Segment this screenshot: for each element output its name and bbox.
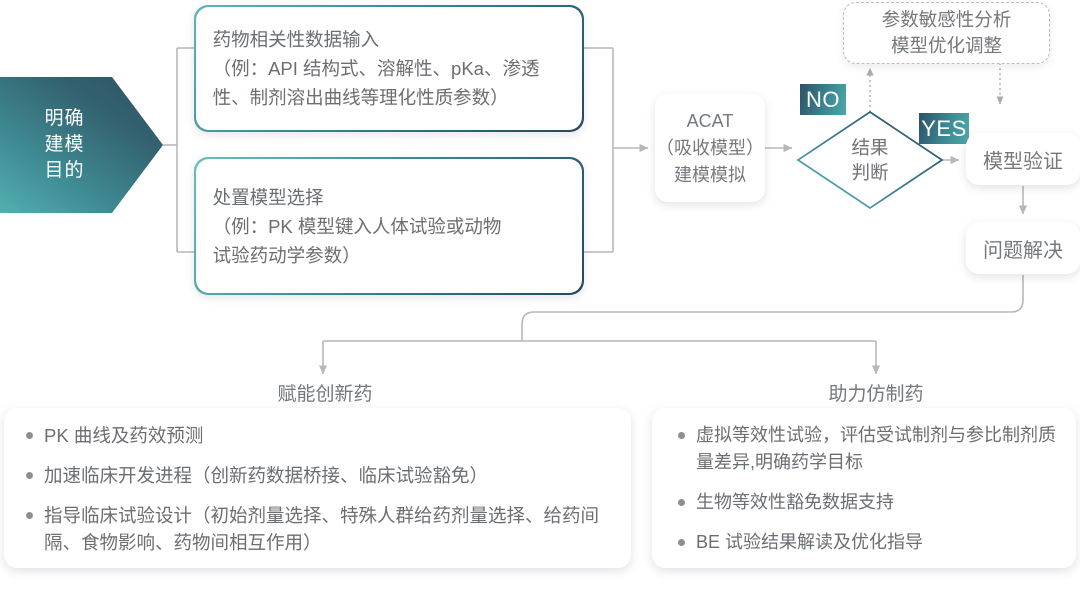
node-drug-data-input[interactable]: 药物相关性数据输入 （例：API 结构式、溶解性、pKa、渗透 性、制剂溶出曲线… bbox=[194, 5, 584, 132]
node-disposition-model-selection[interactable]: 处置模型选择 （例：PK 模型键入人体试验或动物 试验药动学参数） bbox=[194, 157, 584, 295]
bullet-dot-icon bbox=[678, 539, 685, 546]
bullet-dot-icon bbox=[26, 472, 33, 479]
node-acat-simulation[interactable]: ACAT （吸收模型） 建模模拟 bbox=[655, 94, 765, 202]
badge-yes-label: YES bbox=[921, 118, 967, 140]
badge-no-label: NO bbox=[806, 89, 840, 111]
badge-no: NO bbox=[800, 84, 846, 115]
panel-generic-drug: 虚拟等效性试验，评估受试制剂与参比制剂质量差异,明确药学目标 生物等效性豁免数据… bbox=[652, 408, 1076, 568]
list-item: 生物等效性豁免数据支持 bbox=[666, 489, 1058, 516]
bullet-dot-icon bbox=[26, 432, 33, 439]
bullet-dot-icon bbox=[678, 499, 685, 506]
branch-heading-innovative-drug: 赋能创新药 bbox=[255, 379, 395, 406]
node-sensitivity-optimization[interactable]: 参数敏感性分析 模型优化调整 bbox=[843, 2, 1050, 64]
start-node-label: 明确 建模 目的 bbox=[44, 106, 84, 184]
node-disposition-model-selection-body: 处置模型选择 （例：PK 模型键入人体试验或动物 试验药动学参数） bbox=[196, 159, 583, 294]
node-model-verification[interactable]: 模型验证 bbox=[966, 133, 1080, 185]
list-item: 加速临床开发进程（创新药数据桥接、临床试验豁免） bbox=[18, 462, 613, 489]
start-node-clarify-goal[interactable]: 明确 建模 目的 bbox=[0, 77, 163, 213]
list-item: 虚拟等效性试验，评估受试制剂与参比制剂质量差异,明确药学目标 bbox=[666, 422, 1058, 476]
flowchart-canvas: 明确 建模 目的 药物相关性数据输入 （例：API 结构式、溶解性、pKa、渗透… bbox=[0, 0, 1080, 606]
node-problem-solved[interactable]: 问题解决 bbox=[966, 222, 1080, 274]
panel-innovative-drug: PK 曲线及药效预测 加速临床开发进程（创新药数据桥接、临床试验豁免） 指导临床… bbox=[4, 408, 631, 568]
list-item: PK 曲线及药效预测 bbox=[18, 422, 613, 449]
list-item: 指导临床试验设计（初始剂量选择、特殊人群给药剂量选择、给药间隔、食物影响、药物间… bbox=[18, 502, 613, 556]
branch-heading-generic-drug: 助力仿制药 bbox=[806, 379, 946, 406]
list-item: BE 试验结果解读及优化指导 bbox=[666, 529, 1058, 556]
badge-yes: YES bbox=[919, 113, 969, 144]
node-drug-data-input-body: 药物相关性数据输入 （例：API 结构式、溶解性、pKa、渗透 性、制剂溶出曲线… bbox=[196, 7, 583, 131]
bullet-dot-icon bbox=[26, 512, 33, 519]
bullet-dot-icon bbox=[678, 432, 685, 439]
